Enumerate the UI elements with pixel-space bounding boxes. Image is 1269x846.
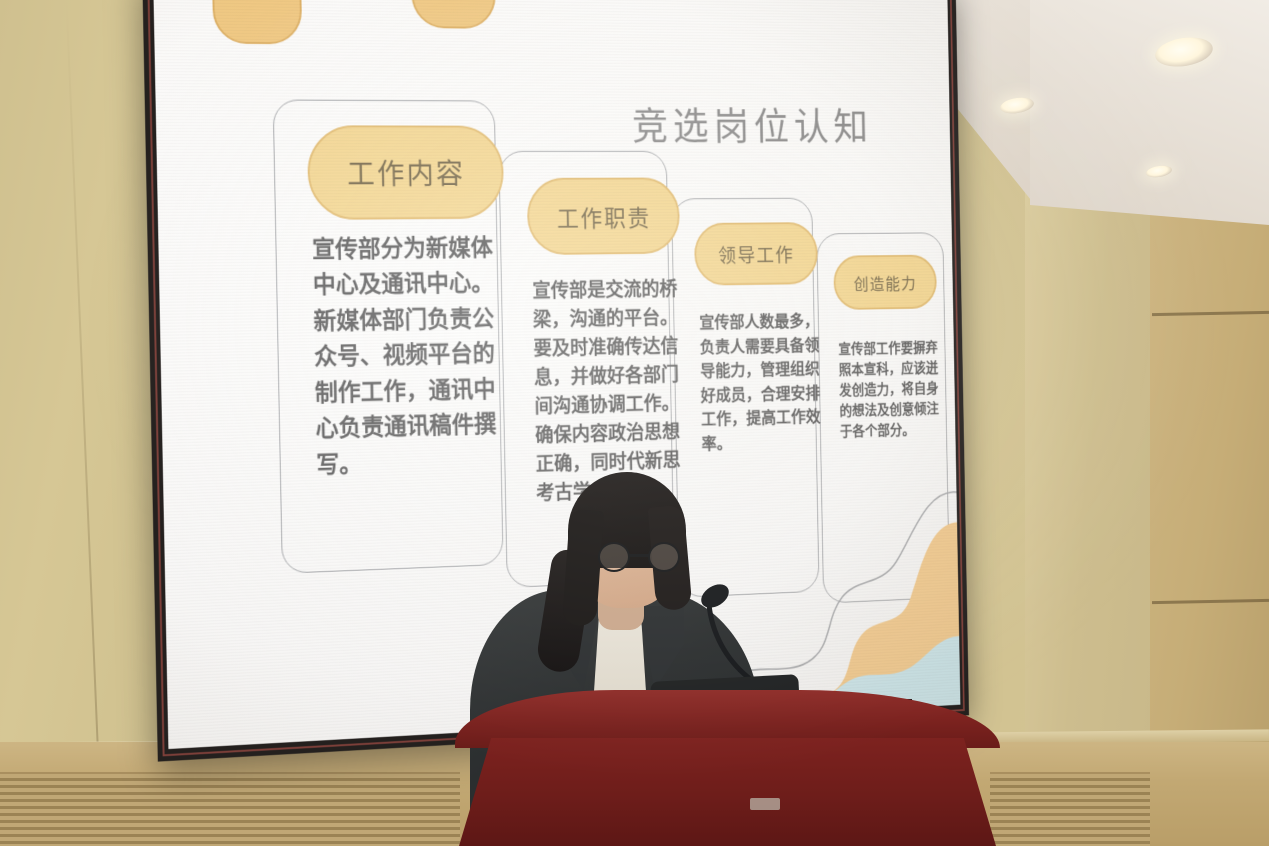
decor-blob-icon bbox=[410, 0, 496, 29]
podium bbox=[455, 690, 1000, 846]
glasses-bridge bbox=[629, 554, 649, 557]
card-body-work-content: 宣传部分为新媒体中心及通讯中心。新媒体部门负责公众号、视频平台的制作工作，通讯中… bbox=[312, 230, 514, 483]
ceiling-right bbox=[1030, 0, 1269, 230]
card-heading-work-content: 工作内容 bbox=[307, 125, 505, 220]
podium-nameplate bbox=[750, 798, 780, 810]
card-heading-work-duties: 工作职责 bbox=[527, 177, 681, 255]
page-title: 竞选岗位认知 bbox=[631, 95, 873, 150]
podium-body bbox=[459, 738, 996, 846]
air-vent-grille bbox=[0, 772, 460, 846]
air-vent-grille bbox=[990, 772, 1150, 846]
glasses-lens-right bbox=[648, 542, 680, 572]
card-heading-leadership: 领导工作 bbox=[694, 222, 818, 286]
wall-panel-seam bbox=[65, 0, 100, 790]
conference-room: 竞选岗位认知 工作内容 宣传部分为新媒体中心及通讯中心。新媒体部门负责公众号、视… bbox=[0, 0, 1269, 846]
card-body-leadership: 宣传部人数最多，负责人需要具备领导能力，管理组织好成员，合理安排工作，提高工作效… bbox=[699, 310, 825, 457]
glasses-icon bbox=[598, 542, 682, 572]
card-heading-creativity: 创造能力 bbox=[833, 255, 937, 310]
decor-blob-icon bbox=[211, 0, 302, 44]
card-body-creativity: 宣传部工作要摒弃照本宣科，应该迸发创造力，将自身的想法及创意倾注于各个部分。 bbox=[838, 338, 943, 443]
glasses-lens-left bbox=[598, 542, 630, 572]
